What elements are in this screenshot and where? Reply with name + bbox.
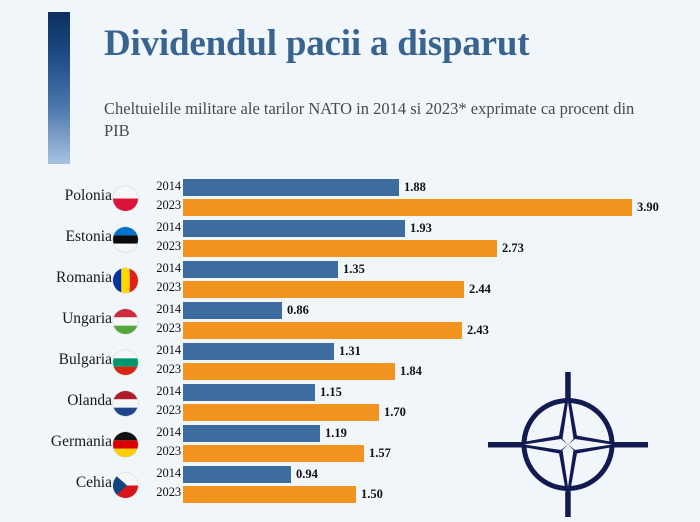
bar-item: 1.57 [183, 445, 424, 462]
bar-2023 [183, 486, 356, 503]
year-labels: 20142023 [143, 219, 181, 260]
bar-item: 2.44 [183, 281, 524, 298]
bar-2014 [183, 466, 291, 483]
year-label: 2023 [143, 198, 181, 213]
country-label: Polonia [0, 187, 112, 205]
country-label: Germania [0, 433, 112, 451]
bar-2014 [183, 179, 399, 196]
bar-item: 2.73 [183, 240, 557, 257]
year-labels: 20142023 [143, 260, 181, 301]
bar-item: 1.35 [183, 261, 398, 278]
bar-2023 [183, 281, 464, 298]
bar-2023 [183, 322, 462, 339]
bar-2014 [183, 384, 315, 401]
bar-item: 1.31 [183, 343, 394, 360]
bar-value-label: 0.94 [291, 466, 318, 483]
country-label: Estonia [0, 228, 112, 246]
bar-2023 [183, 445, 364, 462]
country-label: Cehia [0, 474, 112, 492]
page-title: Dividendul pacii a disparut [104, 22, 674, 66]
bar-item: 1.70 [183, 404, 439, 421]
bar-value-label: 1.50 [356, 486, 383, 503]
year-labels: 20142023 [143, 301, 181, 342]
bar-2014 [183, 425, 320, 442]
nato-compass-star-icon [488, 372, 648, 517]
bar-value-label: 1.84 [395, 363, 422, 380]
bar-value-label: 2.44 [464, 281, 491, 298]
bar-item: 1.50 [183, 486, 416, 503]
poland-flag-icon [113, 186, 138, 211]
table-row: Romania201420231.352.44 [0, 260, 700, 301]
infographic-root: Dividendul pacii a disparut Cheltuielile… [0, 0, 700, 522]
header: Dividendul pacii a disparut Cheltuielile… [0, 0, 700, 172]
table-row: Ungaria201420230.862.43 [0, 301, 700, 342]
bar-value-label: 1.88 [399, 179, 426, 196]
country-label: Romania [0, 269, 112, 287]
bar-2023 [183, 404, 379, 421]
year-label: 2014 [143, 384, 181, 399]
year-labels: 20142023 [143, 342, 181, 383]
year-label: 2023 [143, 362, 181, 377]
bar-value-label: 1.93 [405, 220, 432, 237]
year-label: 2023 [143, 239, 181, 254]
year-label: 2014 [143, 179, 181, 194]
year-labels: 20142023 [143, 465, 181, 506]
bar-item: 1.84 [183, 363, 455, 380]
hungary-flag-icon [113, 309, 138, 334]
estonia-flag-icon [113, 227, 138, 252]
bar-value-label: 1.35 [338, 261, 365, 278]
bar-value-label: 1.19 [320, 425, 347, 442]
year-label: 2023 [143, 485, 181, 500]
bar-2023 [183, 199, 632, 216]
country-label: Bulgaria [0, 351, 112, 369]
bar-2014 [183, 302, 282, 319]
bar-value-label: 2.43 [462, 322, 489, 339]
year-label: 2023 [143, 321, 181, 336]
country-label: Olanda [0, 392, 112, 410]
year-label: 2014 [143, 220, 181, 235]
bar-value-label: 1.70 [379, 404, 406, 421]
romania-flag-icon [113, 268, 138, 293]
year-label: 2023 [143, 444, 181, 459]
netherlands-flag-icon [113, 391, 138, 416]
year-label: 2014 [143, 343, 181, 358]
bar-item: 2.43 [183, 322, 522, 339]
year-label: 2023 [143, 403, 181, 418]
bar-2023 [183, 363, 395, 380]
year-labels: 20142023 [143, 424, 181, 465]
bar-item: 1.15 [183, 384, 375, 401]
czechia-flag-icon [113, 473, 138, 498]
year-label: 2014 [143, 261, 181, 276]
germany-flag-icon [113, 432, 138, 457]
table-row: Estonia201420231.932.73 [0, 219, 700, 260]
bar-value-label: 0.86 [282, 302, 309, 319]
bar-value-label: 3.90 [632, 199, 659, 216]
year-label: 2014 [143, 302, 181, 317]
year-labels: 20142023 [143, 383, 181, 424]
bar-item: 1.19 [183, 425, 380, 442]
country-label: Ungaria [0, 310, 112, 328]
bar-item: 1.93 [183, 220, 465, 237]
bar-2014 [183, 343, 334, 360]
bar-item: 0.94 [183, 466, 351, 483]
table-row: Polonia201420231.883.90 [0, 178, 700, 219]
bar-value-label: 1.31 [334, 343, 361, 360]
bar-value-label: 1.57 [364, 445, 391, 462]
bulgaria-flag-icon [113, 350, 138, 375]
bar-item: 3.90 [183, 199, 692, 216]
bar-item: 1.88 [183, 179, 459, 196]
year-label: 2014 [143, 425, 181, 440]
accent-gradient-bar [48, 12, 70, 164]
bar-2014 [183, 220, 405, 237]
year-label: 2023 [143, 280, 181, 295]
bar-value-label: 2.73 [497, 240, 524, 257]
year-label: 2014 [143, 466, 181, 481]
year-labels: 20142023 [143, 178, 181, 219]
bar-2014 [183, 261, 338, 278]
page-subtitle: Cheltuielile militare ale tarilor NATO i… [104, 98, 664, 142]
bar-value-label: 1.15 [315, 384, 342, 401]
bar-item: 0.86 [183, 302, 342, 319]
bar-2023 [183, 240, 497, 257]
